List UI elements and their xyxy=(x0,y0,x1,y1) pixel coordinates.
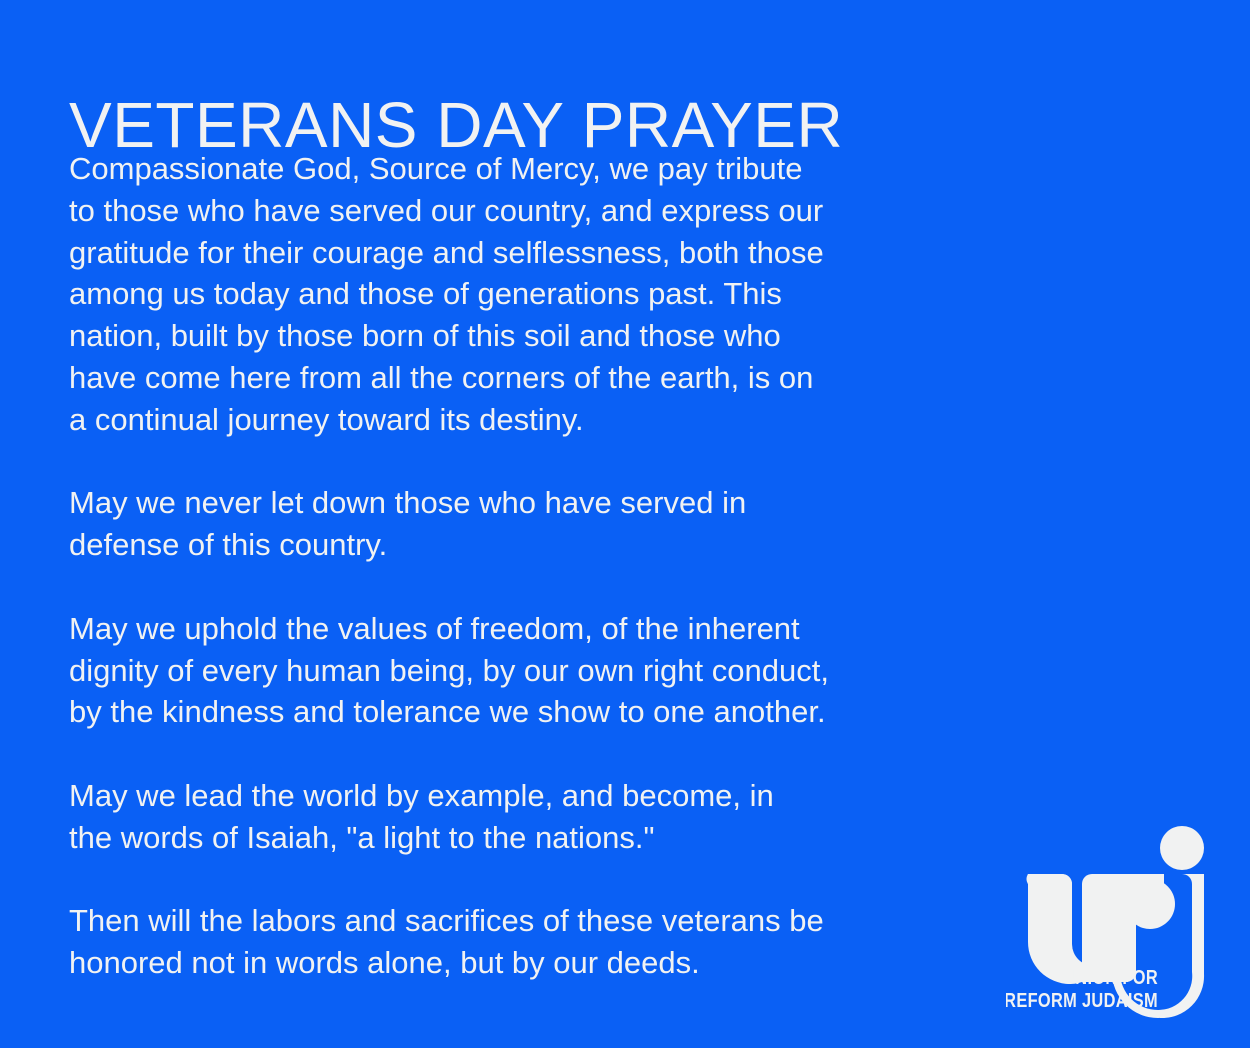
prayer-paragraph-1: Compassionate God, Source of Mercy, we p… xyxy=(69,148,929,441)
prayer-text-body: Compassionate God, Source of Mercy, we p… xyxy=(69,148,929,984)
prayer-paragraph-5: Then will the labors and sacrifices of t… xyxy=(69,900,929,984)
poster-canvas: VETERANS DAY PRAYER Compassionate God, S… xyxy=(0,0,1250,1048)
prayer-paragraph-4: May we lead the world by example, and be… xyxy=(69,775,929,859)
prayer-paragraph-3: May we uphold the values of freedom, of … xyxy=(69,608,929,733)
urj-tagline-line-1: UNION FOR xyxy=(1063,965,1158,988)
urj-logo: UNION FOR REFORM JUDAISM xyxy=(1006,826,1222,1018)
prayer-paragraph-2: May we never let down those who have ser… xyxy=(69,482,929,566)
urj-tagline-line-2: REFORM JUDAISM xyxy=(1006,988,1158,1011)
urj-tagline: UNION FOR REFORM JUDAISM xyxy=(1006,965,1158,1011)
